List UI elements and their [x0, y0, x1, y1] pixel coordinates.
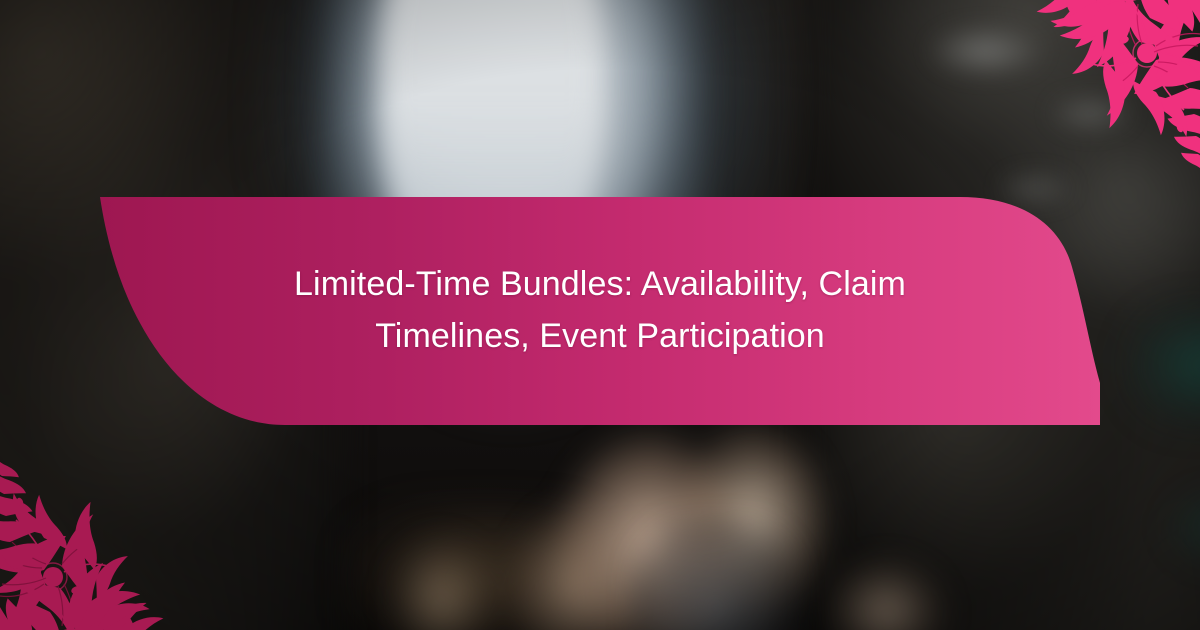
banner-image-canvas: Limited-Time Bundles: Availability, Clai…	[0, 0, 1200, 630]
page-title: Limited-Time Bundles: Availability, Clai…	[240, 259, 960, 362]
banner-text-block: Limited-Time Bundles: Availability, Clai…	[100, 197, 1100, 433]
title-banner: Limited-Time Bundles: Availability, Clai…	[100, 197, 1100, 433]
